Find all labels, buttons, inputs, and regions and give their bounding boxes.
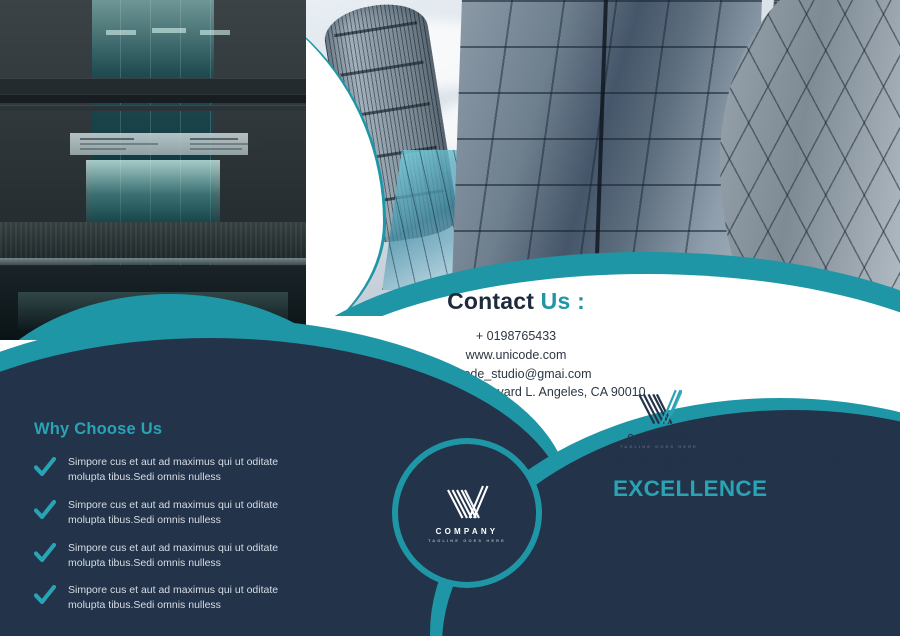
atrium-doorway xyxy=(86,160,220,222)
striped-v-logo-icon xyxy=(636,388,682,428)
logo-company-name: COMPANY xyxy=(628,433,691,442)
check-icon xyxy=(34,500,56,525)
striped-v-logo-icon xyxy=(445,484,489,522)
cover-logo-lockup: COMPANY TAGLINE GOES HERE xyxy=(620,388,698,449)
left-panel-photo xyxy=(0,0,306,340)
atrium-light xyxy=(152,28,186,33)
headline-line-2: EXCELLENCE xyxy=(613,476,893,502)
contact-heading: Contact Us : xyxy=(306,288,726,315)
cover-headline: TRUSTED TO DELIVER EXCELLENCE xyxy=(613,450,893,502)
list-item: Simpore cus et aut ad maximus qui ut odi… xyxy=(34,455,284,485)
atrium-railing xyxy=(0,258,306,265)
logo-tagline: TAGLINE GOES HERE xyxy=(620,444,698,449)
list-item: Simpore cus et aut ad maximus qui ut odi… xyxy=(34,498,284,528)
logo-company-name: COMPANY xyxy=(436,527,499,536)
check-icon xyxy=(34,457,56,482)
headline-line-1: TRUSTED TO DELIVER xyxy=(613,450,893,476)
list-item-text: Simpore cus et aut ad maximus qui ut odi… xyxy=(68,583,284,613)
atrium-floor xyxy=(0,222,306,262)
list-item-text: Simpore cus et aut ad maximus qui ut odi… xyxy=(68,455,284,485)
check-icon xyxy=(34,585,56,610)
trifold-brochure: Contact Us : + 0198765433 www.unicode.co… xyxy=(0,0,900,636)
atrium-directory-sign xyxy=(70,133,248,155)
check-icon xyxy=(34,543,56,568)
center-logo-badge: COMPANY TAGLINE GOES HERE xyxy=(398,444,536,582)
list-item: Simpore cus et aut ad maximus qui ut odi… xyxy=(34,541,284,571)
atrium-beam xyxy=(0,94,306,103)
logo-tagline: TAGLINE GOES HERE xyxy=(428,538,506,543)
why-choose-us-section: Why Choose Us Simpore cus et aut ad maxi… xyxy=(34,420,284,626)
atrium-beam xyxy=(0,105,306,111)
logo-lockup: COMPANY TAGLINE GOES HERE xyxy=(428,484,506,543)
atrium-light xyxy=(200,30,230,35)
atrium-light xyxy=(106,30,136,35)
contact-heading-dark: Contact xyxy=(447,288,534,314)
list-item-text: Simpore cus et aut ad maximus qui ut odi… xyxy=(68,498,284,528)
atrium-beam xyxy=(0,78,306,94)
list-item-text: Simpore cus et aut ad maximus qui ut odi… xyxy=(68,541,284,571)
why-choose-us-title: Why Choose Us xyxy=(34,420,284,439)
contact-heading-accent: Us : xyxy=(541,288,585,314)
list-item: Simpore cus et aut ad maximus qui ut odi… xyxy=(34,583,284,613)
right-panel-photo xyxy=(306,0,900,316)
